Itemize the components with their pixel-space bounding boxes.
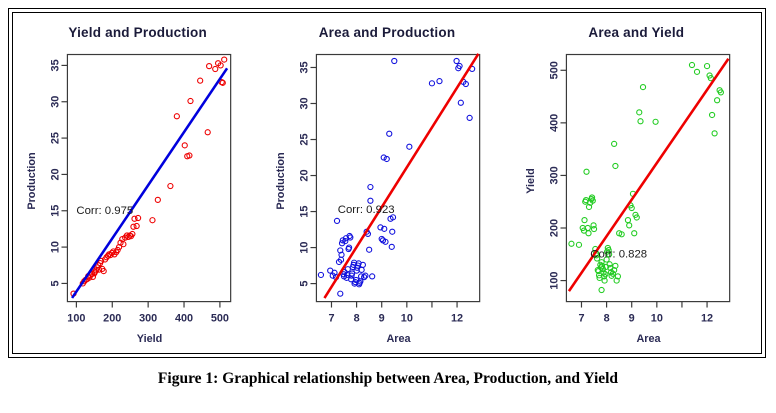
figure-page: Yield and Production 5101520253035 10020… xyxy=(0,0,776,413)
data-point xyxy=(591,226,596,231)
y-tick-label: 30 xyxy=(50,96,62,108)
data-point xyxy=(370,274,375,279)
y-tick-label: 200 xyxy=(548,219,560,237)
correlation-annotation-1: Corr: 0.975 xyxy=(76,205,133,217)
data-point xyxy=(368,198,373,203)
data-point xyxy=(155,197,160,202)
y-tick-label: 35 xyxy=(50,59,62,71)
figure-outer-border: Yield and Production 5101520253035 10020… xyxy=(8,8,766,358)
y-axis-title-2: Production xyxy=(275,152,287,209)
data-point xyxy=(390,229,395,234)
data-point xyxy=(134,223,139,228)
correlation-annotation-3: Corr: 0.828 xyxy=(590,248,647,260)
y-tick-label: 25 xyxy=(299,133,311,145)
x-tick-label: 8 xyxy=(354,312,360,324)
data-point xyxy=(467,115,472,120)
x-axis-ticks-1: 100200300400500 xyxy=(67,302,229,325)
panel-area-production: Area and Production 5101520253035 789101… xyxy=(262,13,511,353)
data-point xyxy=(636,110,641,115)
data-point xyxy=(222,57,227,62)
data-point xyxy=(714,98,719,103)
data-point xyxy=(638,119,643,124)
data-point xyxy=(150,218,155,223)
data-point xyxy=(626,223,631,228)
y-tick-label: 5 xyxy=(299,281,311,287)
data-point xyxy=(437,79,442,84)
data-point xyxy=(335,218,340,223)
x-tick-label: 8 xyxy=(603,312,609,324)
data-point xyxy=(712,131,717,136)
data-point xyxy=(207,64,212,69)
data-point xyxy=(136,215,141,220)
y-axis-title-3: Yield xyxy=(524,168,536,194)
x-axis-title-2: Area xyxy=(387,333,412,345)
data-point xyxy=(392,58,397,63)
x-axis-title-3: Area xyxy=(636,333,661,345)
y-axis-ticks-3: 100200300400500 xyxy=(548,61,566,289)
data-point xyxy=(205,130,210,135)
y-tick-label: 20 xyxy=(50,168,62,180)
scatter-plot-area-yield: 100200300400500 7891012 Corr: 0.828 Yiel… xyxy=(512,13,761,353)
data-points-2 xyxy=(319,58,475,296)
data-point xyxy=(188,98,193,103)
y-tick-label: 20 xyxy=(299,169,311,181)
data-point xyxy=(213,66,218,71)
x-axis-title-1: Yield xyxy=(137,333,163,345)
regression-line-2 xyxy=(325,54,479,298)
y-tick-label: 15 xyxy=(50,205,62,217)
data-point xyxy=(368,184,373,189)
x-axis-ticks-3: 7891012 xyxy=(578,302,713,325)
x-tick-label: 7 xyxy=(329,312,335,324)
scatter-plot-yield-production: 5101520253035 100200300400500 Corr: 0.97… xyxy=(13,13,262,353)
data-point xyxy=(586,231,591,236)
data-point xyxy=(407,144,412,149)
y-tick-label: 500 xyxy=(548,61,560,79)
y-tick-label: 15 xyxy=(299,206,311,218)
data-point xyxy=(319,272,324,277)
plot-frame-1 xyxy=(67,55,230,302)
data-point xyxy=(198,78,203,83)
y-tick-label: 100 xyxy=(548,272,560,290)
data-point xyxy=(338,291,343,296)
y-tick-label: 10 xyxy=(299,242,311,254)
chart-panel-row: Yield and Production 5101520253035 10020… xyxy=(13,13,761,353)
x-axis-ticks-2: 7891012 xyxy=(329,302,464,325)
data-point xyxy=(367,247,372,252)
y-tick-label: 5 xyxy=(50,280,62,286)
x-tick-label: 500 xyxy=(211,312,229,324)
data-point xyxy=(454,58,459,63)
data-point xyxy=(704,64,709,69)
data-point xyxy=(611,141,616,146)
y-tick-label: 25 xyxy=(50,132,62,144)
data-point xyxy=(569,241,574,246)
x-tick-label: 9 xyxy=(379,312,385,324)
x-tick-label: 200 xyxy=(103,312,121,324)
figure-caption: Figure 1: Graphical relationship between… xyxy=(0,370,776,388)
data-point xyxy=(584,169,589,174)
data-point xyxy=(359,267,364,272)
data-point xyxy=(689,62,694,67)
y-tick-label: 10 xyxy=(50,241,62,253)
y-axis-ticks-2: 5101520253035 xyxy=(299,61,317,286)
data-point xyxy=(653,119,658,124)
data-point xyxy=(612,163,617,168)
y-axis-ticks-1: 5101520253035 xyxy=(50,59,68,286)
data-point xyxy=(709,112,714,117)
scatter-plot-area-production: 5101520253035 7891012 Corr: 0.923 Produc… xyxy=(262,13,511,353)
data-point xyxy=(387,131,392,136)
correlation-annotation-2: Corr: 0.923 xyxy=(338,204,395,216)
x-tick-label: 400 xyxy=(175,312,193,324)
data-point xyxy=(459,100,464,105)
x-tick-label: 12 xyxy=(451,312,463,324)
data-point xyxy=(582,218,587,223)
y-axis-title-1: Production xyxy=(26,152,38,209)
y-tick-label: 30 xyxy=(299,97,311,109)
data-point xyxy=(576,242,581,247)
regression-line-1 xyxy=(72,68,227,298)
x-tick-label: 300 xyxy=(139,312,157,324)
y-tick-label: 300 xyxy=(548,166,560,184)
data-point xyxy=(174,114,179,119)
x-tick-label: 9 xyxy=(628,312,634,324)
x-tick-label: 100 xyxy=(67,312,85,324)
panel-area-yield: Area and Yield 100200300400500 7891012 C… xyxy=(512,13,761,353)
x-tick-label: 7 xyxy=(578,312,584,324)
x-tick-label: 10 xyxy=(401,312,413,324)
data-point xyxy=(599,287,604,292)
figure-inner-border: Yield and Production 5101520253035 10020… xyxy=(12,12,762,354)
data-point xyxy=(168,183,173,188)
data-point xyxy=(694,69,699,74)
data-point xyxy=(640,85,645,90)
data-points-1 xyxy=(71,57,227,296)
y-tick-label: 400 xyxy=(548,114,560,132)
x-tick-label: 12 xyxy=(701,312,713,324)
panel-yield-production: Yield and Production 5101520253035 10020… xyxy=(13,13,262,353)
data-point xyxy=(430,81,435,86)
data-point xyxy=(631,231,636,236)
data-point xyxy=(346,267,351,272)
data-point xyxy=(390,244,395,249)
x-tick-label: 10 xyxy=(650,312,662,324)
data-point xyxy=(182,143,187,148)
data-point xyxy=(625,218,630,223)
data-point xyxy=(585,225,590,230)
y-tick-label: 35 xyxy=(299,61,311,73)
